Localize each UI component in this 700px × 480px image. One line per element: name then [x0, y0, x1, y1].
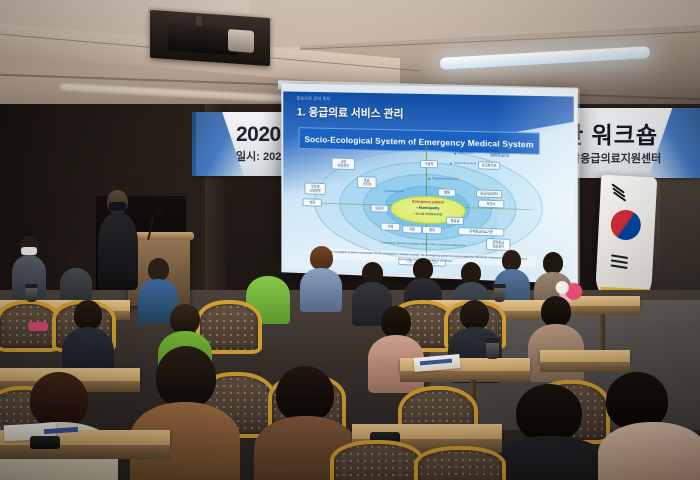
diagram-label-safety: Safety: [310, 143, 326, 150]
head: [74, 300, 102, 330]
level-label-organizational: Organizational level: [432, 176, 458, 181]
coffee-cup: [26, 286, 37, 302]
audience-member-foreground: [130, 346, 240, 480]
flag-cloth: [595, 175, 658, 306]
diagram-node: 병원: [438, 188, 456, 197]
trigram-mark: [611, 259, 628, 263]
trigram-mark: [611, 254, 628, 258]
head: [413, 258, 433, 280]
level-label-individual: Individual level: [384, 189, 403, 194]
trigram-mark: [611, 264, 628, 268]
head: [310, 246, 333, 270]
head: [460, 300, 489, 330]
head: [170, 304, 200, 334]
head: [362, 262, 383, 284]
audience-member: [300, 246, 342, 308]
head: [461, 262, 481, 284]
audience-member-foreground: [490, 384, 610, 480]
diagram-node: 응급 구조대: [357, 176, 377, 188]
head: [502, 250, 521, 271]
diagram-node: 이웃: [402, 225, 422, 234]
head: [67, 250, 85, 270]
diagram-node: 지자체 소방본부: [304, 183, 325, 195]
chair: [330, 440, 416, 480]
core-line-1: Emergency patient: [391, 199, 465, 205]
face-mask-icon: [21, 247, 37, 255]
head: [541, 296, 571, 327]
body: [598, 422, 700, 480]
diagram-node: 보건복지부: [478, 161, 500, 170]
table-edge: [400, 371, 530, 382]
head: [258, 254, 280, 278]
table-leg: [600, 314, 605, 354]
projector-lens-icon: [228, 29, 254, 53]
head: [543, 252, 563, 274]
diagram-node: 응급실: [446, 217, 464, 226]
slide-heading: 1. 응급의료 서비스 관리: [297, 103, 404, 121]
body: [300, 268, 342, 312]
audience-member-foreground: [598, 372, 700, 480]
level-label-global: Global level: [458, 151, 474, 155]
head: [516, 384, 582, 442]
diagram-node: 의료진: [371, 204, 389, 213]
phone: [30, 436, 60, 449]
cup-lid: [25, 284, 38, 288]
chair: [414, 446, 498, 480]
head: [381, 306, 411, 338]
diagram-node: 가족: [381, 222, 401, 231]
head: [148, 258, 169, 281]
presenter-body: [98, 212, 138, 290]
presenter: [98, 190, 138, 290]
conference-photo: 2020년 일시: 2020년 한 워크숍 충남응급의료지원센터 발표자료 강의…: [0, 0, 700, 480]
face-mask-icon: [109, 202, 126, 211]
table-edge: [0, 445, 170, 459]
audience-member: [60, 250, 92, 306]
diagram-node: 지역응급의료기관: [458, 227, 504, 237]
diagram-node: 응급의료센터: [476, 189, 502, 198]
cup-lid: [485, 338, 500, 343]
diagram-node: 환자: [422, 226, 442, 235]
chair-back: [330, 440, 424, 480]
phone: [28, 322, 48, 331]
body: [490, 436, 610, 480]
level-dot-community: [450, 163, 452, 165]
level-dot-organizational: [428, 178, 430, 180]
level-label-community: Community level: [454, 161, 476, 166]
head: [156, 346, 216, 408]
cup-lid: [493, 284, 506, 288]
chair-back: [414, 446, 506, 480]
diagram-label-health-welfare: Health & welfare: [488, 145, 511, 159]
head: [30, 372, 88, 428]
slide-eyebrow: 발표자료 강의 목차: [297, 96, 331, 103]
head: [276, 366, 334, 422]
diagram-label-social-sector: Social sector: [398, 135, 414, 149]
table-edge: [540, 362, 630, 372]
diagram-node: 소방 안전본부: [332, 158, 355, 170]
level-dot-global: [454, 153, 456, 155]
diagram-node: 현장: [303, 198, 322, 206]
diagram-node: 구급차: [420, 160, 438, 168]
taeguk-circle-icon: [606, 205, 646, 245]
diagram-node: 보건소: [478, 200, 504, 209]
microphone-icon: [154, 208, 162, 216]
